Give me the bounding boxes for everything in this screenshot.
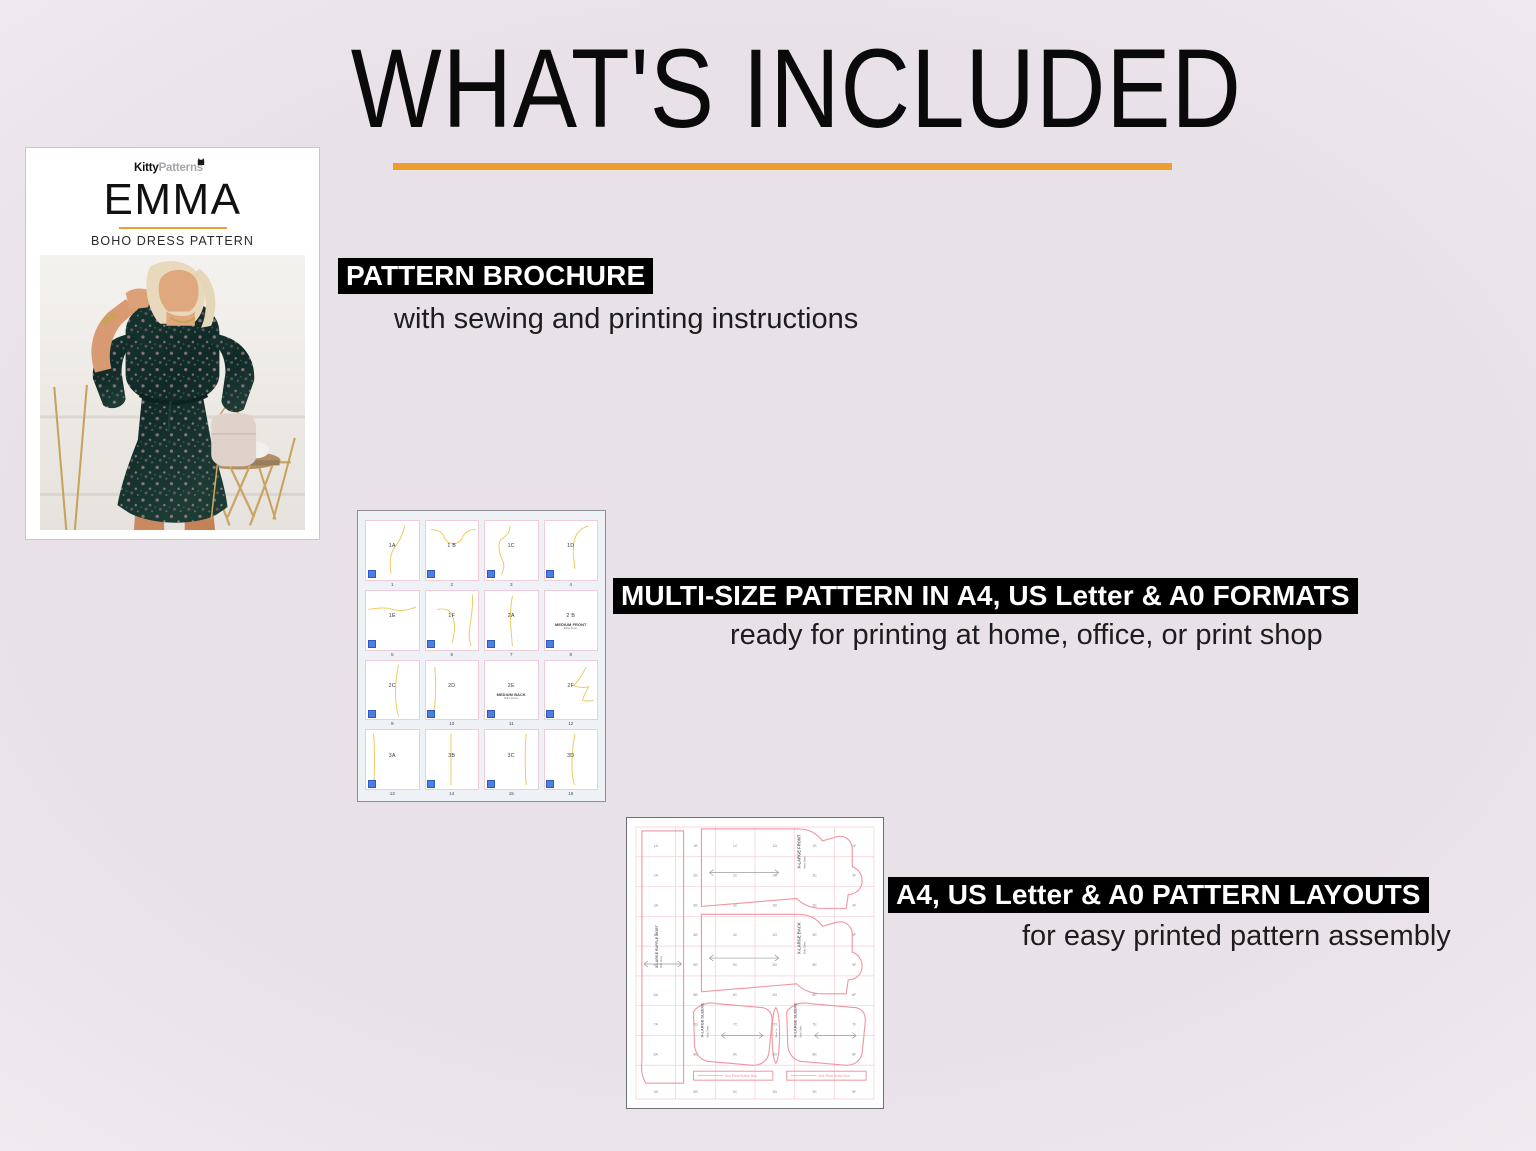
- brochure-thumbnail-card[interactable]: KittyPatterns EMMA BOHO DRESS PATTERN: [25, 147, 320, 540]
- pattern-tile-page-number: 9: [365, 720, 420, 726]
- pattern-tile-page-number: 14: [425, 790, 480, 796]
- pattern-tile-corner-marker-icon: [487, 570, 495, 578]
- pattern-tile-code: 3D: [545, 753, 598, 759]
- pattern-tile-note-sub: Boho Dress: [545, 628, 598, 631]
- svg-text:2C: 2C: [733, 874, 738, 878]
- svg-text:2A: 2A: [654, 874, 659, 878]
- pattern-tile-corner-marker-icon: [427, 710, 435, 718]
- svg-text:9A: 9A: [654, 1090, 659, 1094]
- pattern-tile-page: 3A: [365, 729, 420, 790]
- pattern-tile-page-number: 2: [425, 581, 480, 587]
- pattern-tile-corner-marker-icon: [487, 640, 495, 648]
- pattern-tile-page: 2C: [365, 660, 420, 721]
- pattern-tile-code: 1F: [426, 613, 479, 619]
- pattern-tile-note-sub: Boho Dress: [485, 698, 538, 701]
- svg-text:8A: 8A: [654, 1052, 659, 1056]
- pattern-tile-page-number: 15: [484, 790, 539, 796]
- pattern-tile-page-number: 11: [484, 720, 539, 726]
- svg-text:6C: 6C: [733, 993, 738, 997]
- svg-text:Box Pleat Button Box: Box Pleat Button Box: [818, 1074, 850, 1078]
- svg-text:8C: 8C: [733, 1052, 738, 1056]
- svg-text:6D: 6D: [773, 993, 778, 997]
- svg-text:7E: 7E: [812, 1023, 817, 1027]
- svg-text:9E: 9E: [812, 1090, 817, 1094]
- pattern-tile-page: 3B: [425, 729, 480, 790]
- svg-text:6B: 6B: [693, 993, 698, 997]
- pattern-tile-page: 2EMEDIUM BACKBoho Dress: [484, 660, 539, 721]
- pattern-tile-code: 1E: [366, 613, 419, 619]
- pattern-tile-corner-marker-icon: [487, 780, 495, 788]
- svg-text:Boho Dress: Boho Dress: [707, 1025, 709, 1038]
- pattern-tile-page-number: 12: [544, 720, 599, 726]
- svg-text:4C: 4C: [733, 933, 738, 937]
- cat-icon: [197, 157, 205, 166]
- pattern-tile-corner-marker-icon: [546, 780, 554, 788]
- svg-text:9D: 9D: [773, 1090, 778, 1094]
- pattern-tile-corner-marker-icon: [368, 640, 376, 648]
- pattern-tile-page: 1D: [544, 520, 599, 581]
- pattern-tile: 3C15: [484, 729, 539, 796]
- pattern-tile-page: 2F: [544, 660, 599, 721]
- pattern-tile-page-number: 13: [365, 790, 420, 796]
- pattern-tile: 2F12: [544, 660, 599, 727]
- pattern-tile-page: 1E: [365, 590, 420, 651]
- page-title: WHAT'S INCLUDED: [351, 26, 1220, 151]
- svg-text:1E: 1E: [812, 844, 817, 848]
- svg-text:6E: 6E: [812, 993, 817, 997]
- svg-text:X-LARGE FRONT: X-LARGE FRONT: [797, 834, 802, 869]
- pattern-layout-sheet-preview[interactable]: X-LARGE FRONT Boho Dress X-LARGE BACK Bo…: [626, 817, 884, 1109]
- svg-text:X-LARGE SLEEVE: X-LARGE SLEEVE: [699, 1003, 704, 1038]
- pattern-tile-code: 1A: [366, 543, 419, 549]
- pattern-tile-corner-marker-icon: [427, 780, 435, 788]
- svg-text:1B: 1B: [693, 844, 698, 848]
- pattern-tile: 1 B2: [425, 520, 480, 587]
- svg-text:4D: 4D: [773, 933, 778, 937]
- svg-text:4B: 4B: [693, 933, 698, 937]
- pattern-tile: 1A1: [365, 520, 420, 587]
- pattern-tile: 1D4: [544, 520, 599, 587]
- pattern-tile-corner-marker-icon: [427, 570, 435, 578]
- svg-text:9B: 9B: [693, 1090, 698, 1094]
- slide-canvas: WHAT'S INCLUDED KittyPatterns EMMA BOHO …: [0, 0, 1536, 1151]
- pattern-tile-code: 2F: [545, 683, 598, 689]
- pattern-tile-corner-marker-icon: [546, 640, 554, 648]
- svg-text:3A: 3A: [654, 903, 659, 907]
- svg-text:X-LARGE BACK: X-LARGE BACK: [797, 922, 802, 954]
- svg-text:X-LARGE RUFFLE SKIRT: X-LARGE RUFFLE SKIRT: [655, 924, 659, 968]
- pattern-tile-page: 3D: [544, 729, 599, 790]
- pattern-tile-page: 1F: [425, 590, 480, 651]
- pattern-tile-grid: 1A11 B21C31D41E51F62A72 BMEDIUM FRONTBoh…: [365, 520, 598, 796]
- svg-text:1A: 1A: [654, 844, 659, 848]
- svg-text:2D: 2D: [773, 874, 778, 878]
- feature-subheading-multi-size-pattern: ready for printing at home, office, or p…: [730, 619, 1323, 652]
- pattern-tile-code: 2D: [426, 683, 479, 689]
- svg-text:5B: 5B: [693, 963, 698, 967]
- pattern-tile: 2C9: [365, 660, 420, 727]
- pattern-tile-page: 1A: [365, 520, 420, 581]
- pattern-tile-page: 1 B: [425, 520, 480, 581]
- pattern-tile-code: 2E: [485, 683, 538, 689]
- pattern-tile-page: 2A: [484, 590, 539, 651]
- pattern-tile-page-number: 10: [425, 720, 480, 726]
- pattern-tile-corner-marker-icon: [368, 780, 376, 788]
- pattern-tile-corner-marker-icon: [546, 710, 554, 718]
- svg-text:5D: 5D: [773, 963, 778, 967]
- svg-text:Boho Dress: Boho Dress: [804, 941, 807, 954]
- brand-primary-label: Kitty: [134, 162, 159, 174]
- pattern-tile: 2D10: [425, 660, 480, 727]
- feature-subheading-pattern-layouts: for easy printed pattern assembly: [1022, 920, 1451, 953]
- pattern-tile-page: 1C: [484, 520, 539, 581]
- pattern-tile-page-number: 7: [484, 651, 539, 657]
- pattern-tile-page: 3C: [484, 729, 539, 790]
- svg-text:6A: 6A: [654, 993, 659, 997]
- feature-heading-pattern-layouts: A4, US Letter & A0 PATTERN LAYOUTS: [888, 877, 1429, 913]
- pattern-layout-drawing: X-LARGE FRONT Boho Dress X-LARGE BACK Bo…: [632, 823, 878, 1103]
- pattern-tile: 1E5: [365, 590, 420, 657]
- brand-logo: KittyPatterns: [40, 162, 305, 177]
- pattern-tile-note: MEDIUM BACKBoho Dress: [485, 693, 538, 701]
- pattern-tile-code: 2C: [366, 683, 419, 689]
- brochure-title: EMMA: [40, 178, 305, 222]
- pattern-tile: 3B14: [425, 729, 480, 796]
- pattern-tile-corner-marker-icon: [546, 570, 554, 578]
- pattern-tile-code: 1 B: [426, 543, 479, 549]
- brochure-cover-photo: [40, 255, 305, 530]
- pattern-tile-code: 2 B: [545, 613, 598, 619]
- pattern-tile: 2 BMEDIUM FRONTBoho Dress8: [544, 590, 599, 657]
- svg-text:3E: 3E: [812, 903, 817, 907]
- svg-text:Box Pleat Button Box: Box Pleat Button Box: [725, 1074, 757, 1078]
- pattern-tile-page-number: 5: [365, 651, 420, 657]
- pattern-tile: 1F6: [425, 590, 480, 657]
- pattern-tile-page: 2D: [425, 660, 480, 721]
- pattern-tile-code: 2A: [485, 613, 538, 619]
- pattern-tile-page-number: 1: [365, 581, 420, 587]
- svg-text:1D: 1D: [773, 844, 778, 848]
- svg-text:7D: 7D: [773, 1023, 778, 1027]
- svg-text:Boho Dress: Boho Dress: [661, 955, 663, 968]
- svg-text:8B: 8B: [693, 1052, 698, 1056]
- svg-text:Boho Dress: Boho Dress: [801, 1025, 803, 1038]
- feature-heading-multi-size-pattern: MULTI-SIZE PATTERN IN A4, US Letter & A0…: [613, 578, 1358, 614]
- svg-text:7A: 7A: [654, 1023, 659, 1027]
- svg-text:2B: 2B: [693, 874, 698, 878]
- svg-text:3C: 3C: [733, 903, 738, 907]
- pattern-tile-page-number: 4: [544, 581, 599, 587]
- svg-text:3D: 3D: [773, 903, 778, 907]
- pattern-tile-corner-marker-icon: [487, 710, 495, 718]
- svg-text:8D: 8D: [773, 1052, 778, 1056]
- svg-text:7C: 7C: [733, 1023, 738, 1027]
- title-underline-rule: [393, 163, 1172, 170]
- pattern-tile: 1C3: [484, 520, 539, 587]
- feature-heading-pattern-brochure: PATTERN BROCHURE: [338, 258, 653, 294]
- pattern-tile-code: 1D: [545, 543, 598, 549]
- pattern-tile: 2A7: [484, 590, 539, 657]
- svg-text:4A: 4A: [654, 933, 659, 937]
- svg-text:3B: 3B: [693, 903, 698, 907]
- feature-subheading-pattern-brochure: with sewing and printing instructions: [394, 303, 858, 336]
- pattern-tile-page-number: 6: [425, 651, 480, 657]
- pattern-tile-page-number: 3: [484, 581, 539, 587]
- pattern-tile-page: 2 BMEDIUM FRONTBoho Dress: [544, 590, 599, 651]
- svg-text:2E: 2E: [812, 874, 817, 878]
- pattern-tile-page-number: 16: [544, 790, 599, 796]
- svg-text:5C: 5C: [733, 963, 738, 967]
- svg-text:9C: 9C: [733, 1090, 738, 1094]
- brochure-accent-rule: [119, 227, 227, 229]
- svg-text:1C: 1C: [733, 844, 738, 848]
- svg-text:4E: 4E: [812, 933, 817, 937]
- pattern-tile-corner-marker-icon: [368, 710, 376, 718]
- pattern-tile: 3A13: [365, 729, 420, 796]
- pattern-tile-note: MEDIUM FRONTBoho Dress: [545, 623, 598, 631]
- pattern-tile-corner-marker-icon: [368, 570, 376, 578]
- pattern-tile-corner-marker-icon: [427, 640, 435, 648]
- svg-text:8E: 8E: [812, 1052, 817, 1056]
- pattern-tile-sheet-preview[interactable]: 1A11 B21C31D41E51F62A72 BMEDIUM FRONTBoh…: [357, 510, 606, 802]
- pattern-tile: 3D16: [544, 729, 599, 796]
- svg-text:5A: 5A: [654, 963, 659, 967]
- svg-text:7B: 7B: [693, 1023, 698, 1027]
- pattern-tile-code: 3A: [366, 753, 419, 759]
- svg-text:Waist Tie: Waist Tie: [775, 1028, 778, 1038]
- pattern-tile: 2EMEDIUM BACKBoho Dress11: [484, 660, 539, 727]
- pattern-tile-code: 3B: [426, 753, 479, 759]
- pattern-tile-page-number: 8: [544, 651, 599, 657]
- svg-text:Boho Dress: Boho Dress: [804, 855, 807, 868]
- pattern-tile-code: 1C: [485, 543, 538, 549]
- pattern-tile-code: 3C: [485, 753, 538, 759]
- brochure-subtitle: BOHO DRESS PATTERN: [40, 234, 305, 248]
- svg-text:5E: 5E: [812, 963, 817, 967]
- svg-text:X-LARGE SLEEVE: X-LARGE SLEEVE: [793, 1003, 798, 1038]
